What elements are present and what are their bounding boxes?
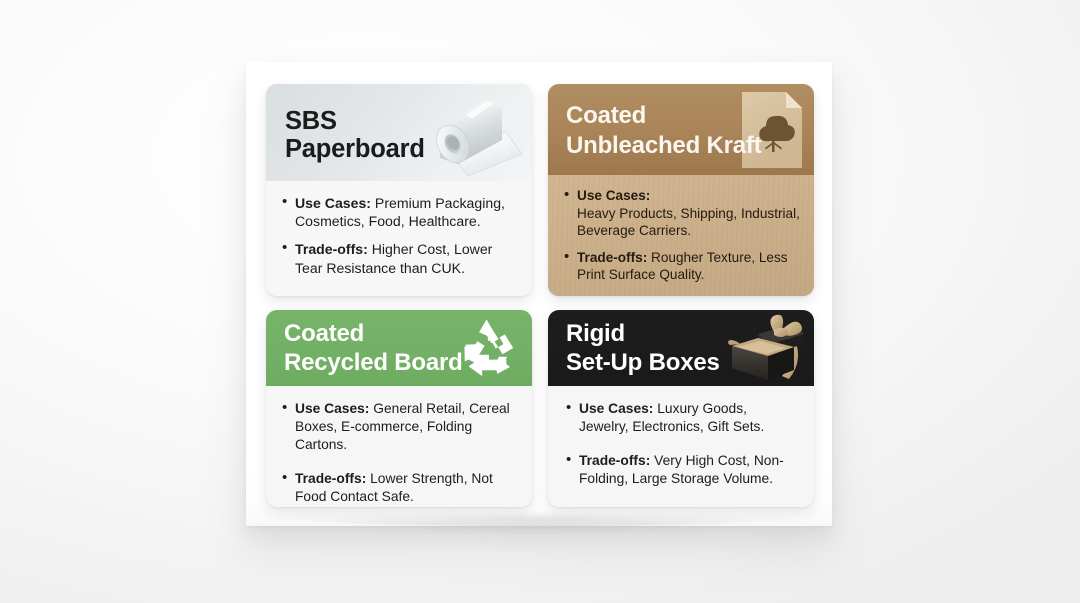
card-body-rsb: Use Cases: Luxury Goods, Jewelry, Electr… <box>548 386 814 507</box>
card-body-crb: Use Cases: General Retail, Cereal Boxes,… <box>266 386 532 507</box>
bullet-trade-offs: Trade-offs: Very High Cost, Non-Folding,… <box>564 452 800 488</box>
card-title-sbs: SBS Paperboard <box>285 107 425 163</box>
card-body-cuk: Use Cases: Heavy Products, Shipping, Ind… <box>548 175 814 296</box>
bullet-list-sbs: Use Cases: Premium Packaging, Cosmetics,… <box>280 194 516 277</box>
card-header-rsb: Rigid Set-Up Boxes <box>548 310 814 386</box>
bullet-list-cuk: Use Cases: Heavy Products, Shipping, Ind… <box>562 187 800 284</box>
recycle-icon <box>456 318 518 378</box>
bullet-label: Trade-offs: <box>295 471 366 486</box>
bullet-label: Trade-offs: <box>577 250 647 265</box>
bullet-use-cases: Use Cases: Heavy Products, Shipping, Ind… <box>562 187 800 240</box>
bullet-list-crb: Use Cases: General Retail, Cereal Boxes,… <box>280 400 518 506</box>
card-sbs-paperboard[interactable]: SBS Paperboard <box>266 84 532 296</box>
card-coated-unbleached-kraft[interactable]: Coated Unbleached Kraft <box>548 84 814 296</box>
sheet-bottom-curl <box>246 508 832 526</box>
bullet-use-cases: Use Cases: Premium Packaging, Cosmetics,… <box>280 194 516 230</box>
card-coated-recycled-board[interactable]: Coated Recycled Board <box>266 310 532 507</box>
paper-roll-icon <box>410 92 528 178</box>
bullet-list-rsb: Use Cases: Luxury Goods, Jewelry, Electr… <box>564 400 800 488</box>
gift-box-icon <box>728 312 808 384</box>
card-header-cuk: Coated Unbleached Kraft <box>548 84 814 175</box>
card-title-rsb: Rigid Set-Up Boxes <box>566 319 720 377</box>
bullet-trade-offs: Trade-offs: Higher Cost, Lower Tear Resi… <box>280 240 516 276</box>
paper-sheet: SBS Paperboard <box>246 62 832 526</box>
card-header-sbs: SBS Paperboard <box>266 84 532 181</box>
bullet-label: Use Cases: <box>295 401 369 416</box>
bullet-trade-offs: Trade-offs: Lower Strength, Not Food Con… <box>280 470 518 506</box>
bullet-value: Heavy Products, Shipping, Industrial, Be… <box>577 206 800 239</box>
bullet-trade-offs: Trade-offs: Rougher Texture, Less Print … <box>562 249 800 284</box>
card-rigid-set-up-boxes[interactable]: Rigid Set-Up Boxes <box>548 310 814 507</box>
card-body-sbs: Use Cases: Premium Packaging, Cosmetics,… <box>266 181 532 296</box>
bullet-label: Use Cases: <box>295 195 371 211</box>
card-header-crb: Coated Recycled Board <box>266 310 532 386</box>
bullet-label: Trade-offs: <box>579 453 650 468</box>
card-title-cuk: Coated Unbleached Kraft <box>566 101 762 161</box>
card-grid: SBS Paperboard <box>266 84 814 507</box>
bullet-use-cases: Use Cases: General Retail, Cereal Boxes,… <box>280 400 518 454</box>
card-title-crb: Coated Recycled Board <box>284 319 463 377</box>
bullet-label: Trade-offs: <box>295 241 368 257</box>
bullet-label: Use Cases: <box>577 188 650 203</box>
bullet-use-cases: Use Cases: Luxury Goods, Jewelry, Electr… <box>564 400 800 436</box>
bullet-label: Use Cases: <box>579 401 653 416</box>
